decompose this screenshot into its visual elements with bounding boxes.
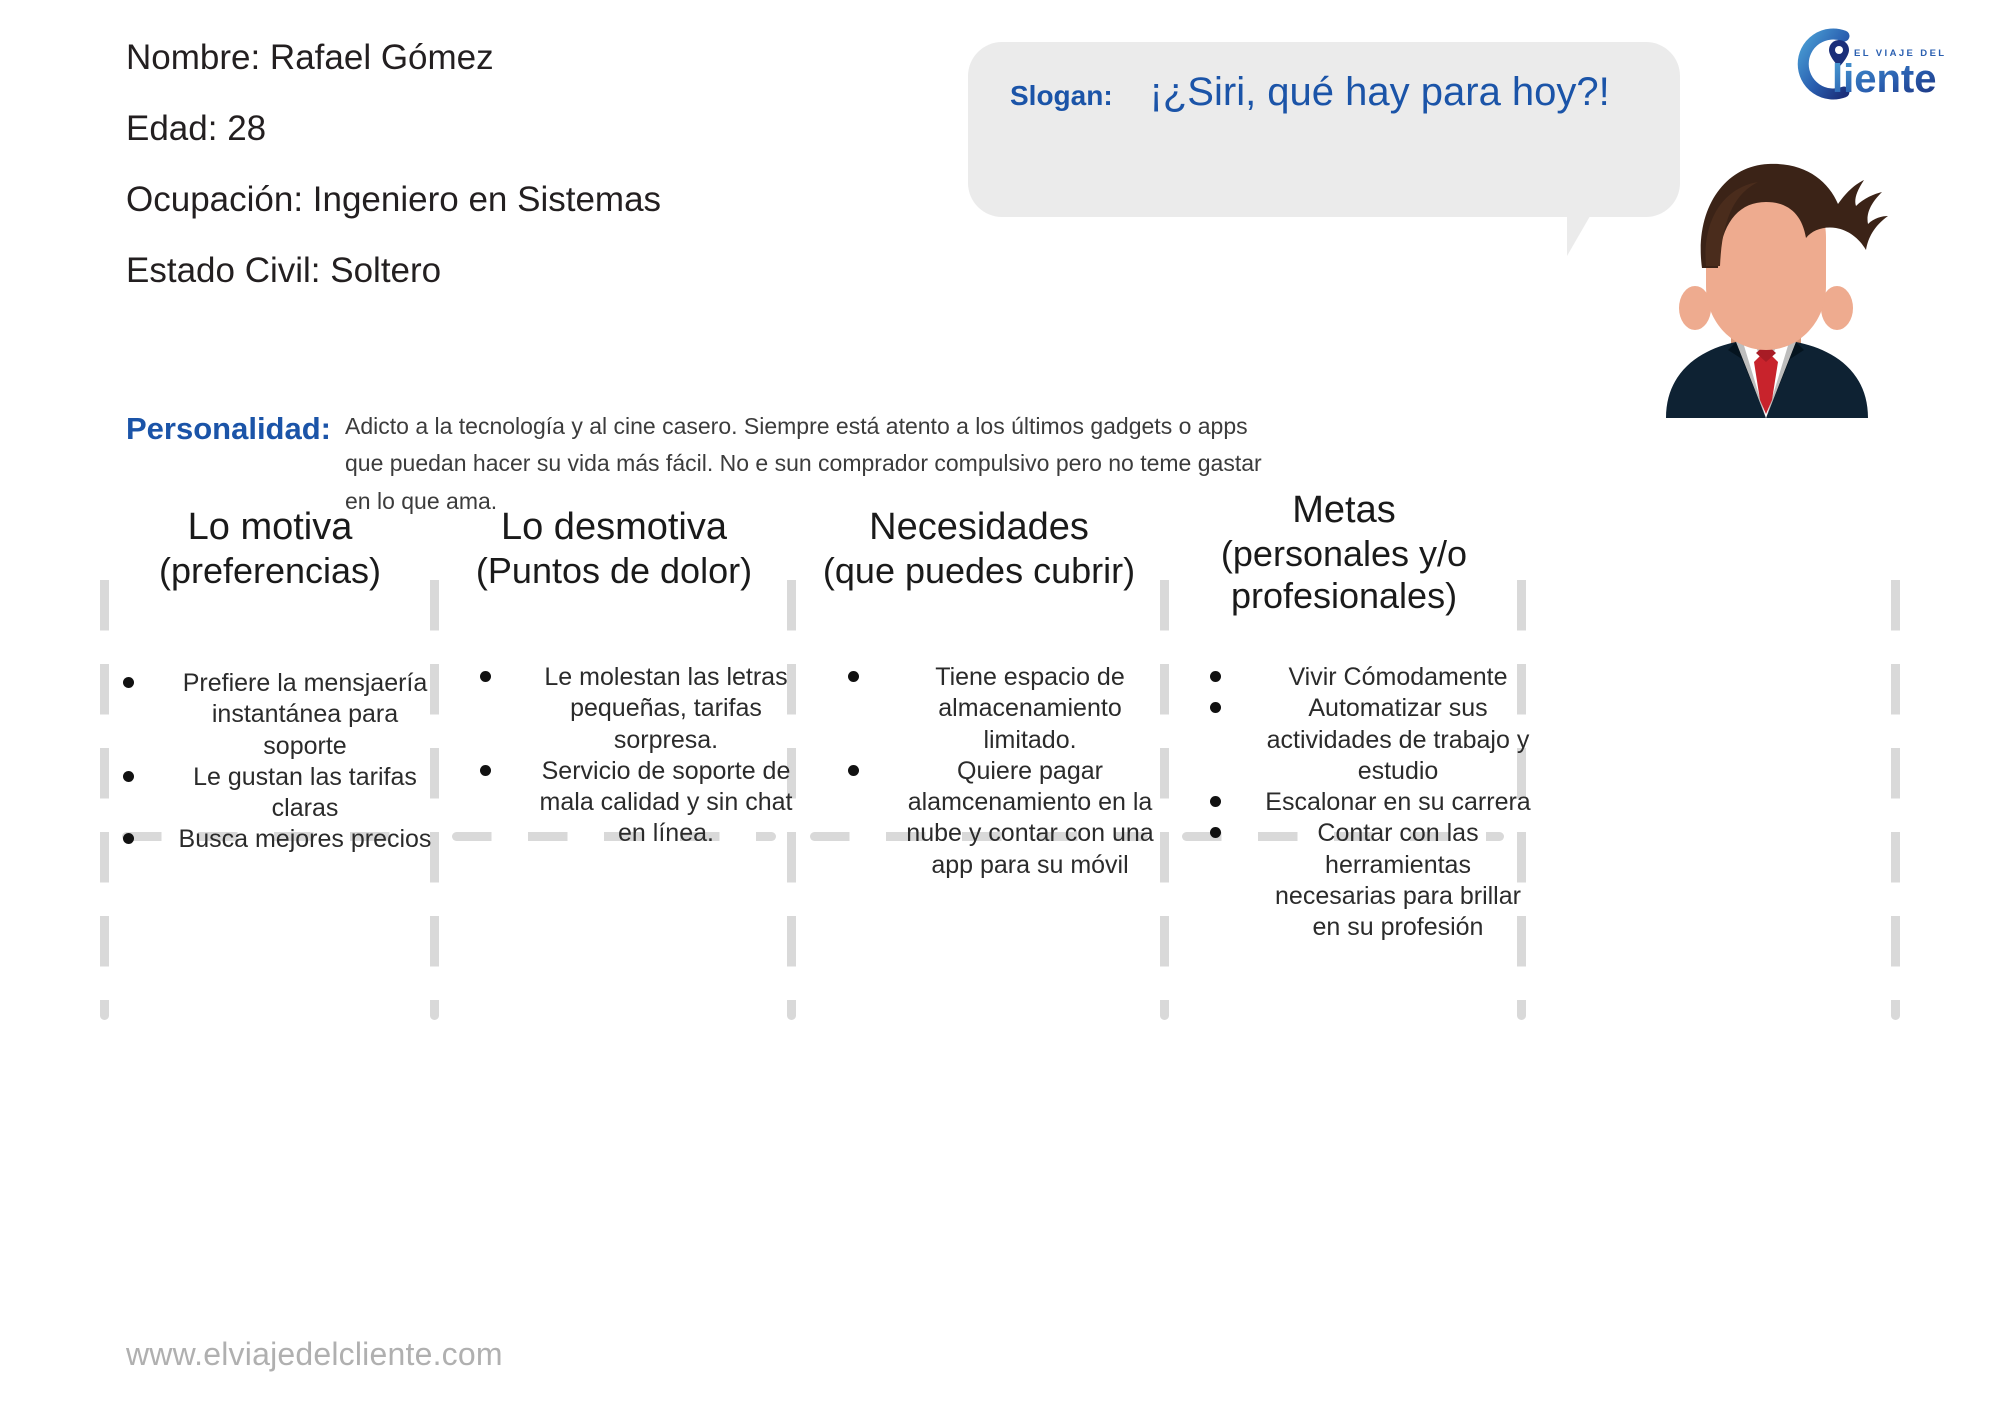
list-item: Vivir Cómodamente [1262,662,1534,693]
column-header-metas: Metas (personales y/o profesionales) [1178,488,1510,618]
column-divider [1160,560,1169,1020]
bullet-icon [123,833,134,844]
persona-field-nombre: Nombre: Rafael Gómez [126,40,946,75]
column-divider [100,560,109,1020]
list-item: Le molestan las letras pequeñas, tarifas… [532,662,800,756]
bullet-icon [123,677,134,688]
list-item: Le gustan las tarifas claras [175,762,435,825]
column-title: Necesidades [806,505,1152,550]
list-item: Contar con las herramientas necesarias p… [1262,818,1534,943]
column-subtitle: (Puntos de dolor) [448,550,780,592]
personality-text: Adicto a la tecnología y al cine casero.… [345,408,1275,520]
list-item: Prefiere la mensjaería instantánea para … [175,668,435,762]
bullet-icon [1210,796,1221,807]
column-title: Lo desmotiva [448,505,780,550]
list-item: Busca mejores precios [175,824,435,855]
brand-logo[interactable]: EL VIAJE DEL liente [1782,22,1972,104]
column-list-lo-desmotiva: Le molestan las letras pequeñas, tarifas… [532,662,800,850]
column-list-metas: Vivir Cómodamente Automatizar sus activi… [1262,662,1534,943]
personality-section: Personalidad: Adicto a la tecnología y a… [126,408,1326,520]
column-subtitle: (preferencias) [120,550,420,592]
column-subtitle: (que puedes cubrir) [806,550,1152,592]
bullet-icon [848,671,859,682]
personality-label: Personalidad: [126,408,331,449]
column-title: Lo motiva [120,505,420,550]
persona-columns-grid: Lo motiva (preferencias) Lo desmotiva (P… [100,560,1900,1020]
column-list-necesidades: Tiene espacio de almacenamiento limitado… [900,662,1160,881]
persona-field-estado-civil: Estado Civil: Soltero [126,253,946,288]
bullet-icon [123,771,134,782]
slogan-label: Slogan: [1010,68,1113,112]
persona-info-block: Nombre: Rafael Gómez Edad: 28 Ocupación:… [126,40,946,324]
bullet-icon [848,765,859,776]
bullet-icon [1210,702,1221,713]
column-header-lo-motiva: Lo motiva (preferencias) [120,505,420,592]
column-title: Metas [1178,488,1510,533]
persona-field-edad: Edad: 28 [126,111,946,146]
column-header-lo-desmotiva: Lo desmotiva (Puntos de dolor) [448,505,780,592]
persona-field-ocupacion: Ocupación: Ingeniero en Sistemas [126,182,946,217]
list-item: Automatizar sus actividades de trabajo y… [1262,693,1534,787]
bullet-icon [480,765,491,776]
slogan-text: ¡¿Siri, qué hay para hoy?! [1145,68,1615,117]
list-item: Escalonar en su carrera [1262,787,1534,818]
column-list-lo-motiva: Prefiere la mensjaería instantánea para … [175,668,435,856]
bullet-icon [1210,671,1221,682]
column-divider [1891,560,1900,1020]
column-header-necesidades: Necesidades (que puedes cubrir) [806,505,1152,592]
bullet-icon [480,671,491,682]
column-subtitle: (personales y/o profesionales) [1178,533,1510,618]
list-item: Quiere pagar alamcenamiento en la nube y… [900,756,1160,881]
avatar [1556,118,1976,418]
logo-wordmark: liente [1832,57,1936,101]
persona-canvas: Nombre: Rafael Gómez Edad: 28 Ocupación:… [0,0,2000,1414]
list-item: Servicio de soporte de mala calidad y si… [532,756,800,850]
footer-url[interactable]: www.elviajedelcliente.com [126,1336,503,1373]
list-item: Tiene espacio de almacenamiento limitado… [900,662,1160,756]
